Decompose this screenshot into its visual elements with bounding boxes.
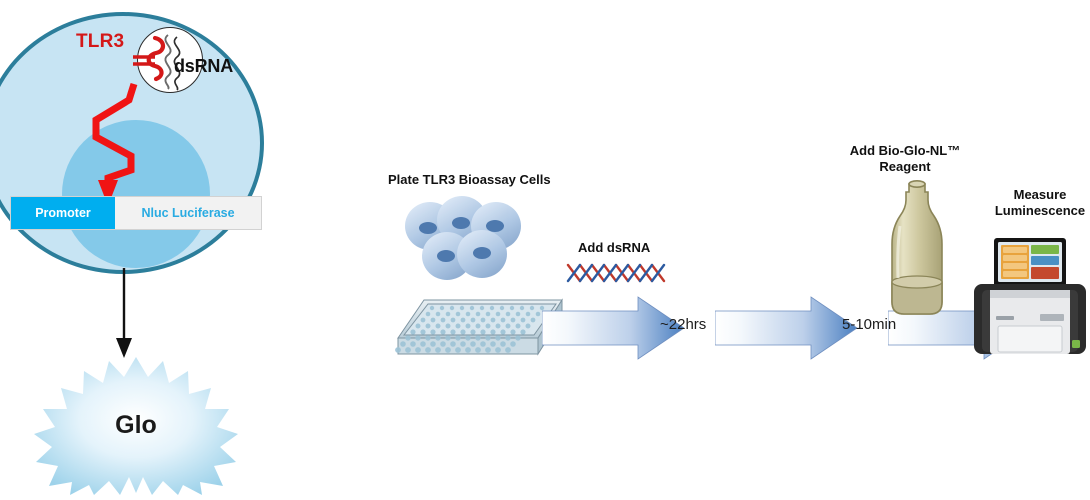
promoter-segment: Promoter xyxy=(11,197,115,229)
caption-measure-line2: Luminescence xyxy=(995,203,1085,218)
reporter-construct-bar: Promoter Nluc Luciferase xyxy=(10,196,262,230)
figure-canvas: TLR3 dsRNA Promoter Nluc Luciferase Glo xyxy=(0,0,1090,500)
dsrna-label: dsRNA xyxy=(174,56,233,77)
arrow-label-incubation: ~22hrs xyxy=(660,316,706,333)
cell-schematic-panel: TLR3 dsRNA Promoter Nluc Luciferase Glo xyxy=(0,0,300,500)
caption-add-dsrna: Add dsRNA xyxy=(578,240,650,256)
tlr3-label: TLR3 xyxy=(76,31,124,53)
caption-add-reagent-line1: Add Bio-Glo-NL™ xyxy=(850,143,960,158)
reagent-bottle-icon xyxy=(882,178,952,320)
caption-measure-line1: Measure xyxy=(1014,187,1067,202)
workflow-arrow-2 xyxy=(715,295,857,361)
glo-starburst-icon xyxy=(32,355,240,495)
dsrna-helix-icon xyxy=(566,262,672,284)
downward-arrow-icon xyxy=(104,268,144,360)
caption-plate-cells: Plate TLR3 Bioassay Cells xyxy=(388,172,551,188)
caption-measure-luminescence: Measure Luminescence xyxy=(970,187,1090,220)
nluc-luciferase-segment: Nluc Luciferase xyxy=(115,197,261,229)
cell-cluster-icon xyxy=(402,192,526,292)
luminometer-icon xyxy=(968,228,1090,362)
caption-add-reagent: Add Bio-Glo-NL™ Reagent xyxy=(835,143,975,176)
workflow-panel: Plate TLR3 Bioassay Cells Add dsRNA Add … xyxy=(330,0,1090,500)
caption-add-reagent-line2: Reagent xyxy=(879,159,930,174)
